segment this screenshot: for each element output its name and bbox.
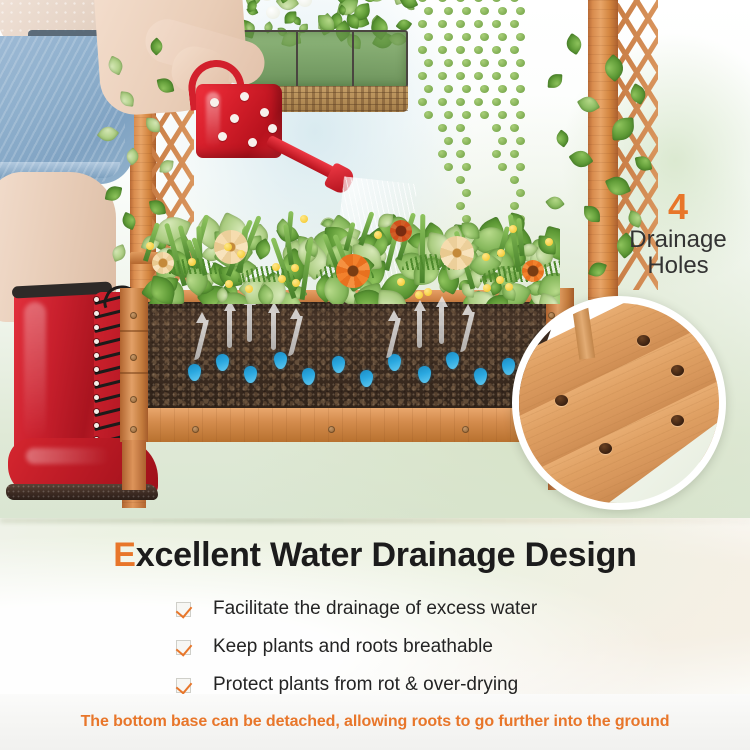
callout-number: 4 <box>608 188 748 226</box>
vine-leaf <box>462 163 471 171</box>
polka-dot <box>230 114 239 123</box>
vine-leaf <box>498 137 507 145</box>
planter-leg-front-left <box>122 440 146 490</box>
small-yellow-flower <box>272 263 280 271</box>
headline-initial: E <box>113 536 135 574</box>
vine-leaf <box>480 7 489 15</box>
vine-leaf <box>456 98 465 106</box>
red-watering-can <box>196 62 356 202</box>
feature-bullet: Facilitate the drainage of excess water <box>176 590 696 628</box>
plank-seam <box>120 372 148 374</box>
vine-leaf <box>438 20 447 28</box>
planter-foliage <box>140 196 560 304</box>
small-yellow-flower <box>482 253 490 261</box>
vine-leaf <box>462 111 471 119</box>
vine-leaf <box>480 111 489 119</box>
arrow-stem <box>417 308 422 348</box>
vine-leaf <box>462 85 471 93</box>
vine-leaf <box>510 20 519 28</box>
feature-bullet-label: Protect plants from rot & over-drying <box>213 674 518 694</box>
vine-leaf <box>498 59 507 67</box>
vine-leaf <box>480 59 489 67</box>
vine-leaf <box>516 137 525 145</box>
small-yellow-flower <box>374 231 382 239</box>
vine-leaf <box>498 111 507 119</box>
white-flower <box>266 6 280 19</box>
boot-shaft <box>14 288 106 460</box>
vine-leaf <box>418 46 427 54</box>
vine-leaf <box>510 46 519 54</box>
vine-leaf <box>516 33 525 41</box>
flower-bloom <box>152 252 174 274</box>
vine-leaf <box>498 85 507 93</box>
feature-bullet-label: Keep plants and roots breathable <box>213 636 493 658</box>
polka-dot <box>260 108 269 117</box>
banner-text: The bottom base can be detached, allowin… <box>81 713 670 731</box>
vine-leaf <box>456 124 465 132</box>
small-yellow-flower <box>237 250 245 258</box>
lace-eyelet <box>94 311 99 316</box>
flower-bloom <box>390 220 412 242</box>
flower-bloom <box>336 254 370 288</box>
polka-dot <box>248 138 257 147</box>
checkmark-icon <box>176 678 191 693</box>
small-yellow-flower <box>424 288 432 296</box>
small-yellow-flower <box>397 278 405 286</box>
raised-garden-bed <box>132 290 562 470</box>
arrow-head <box>388 310 400 321</box>
vine-leaf <box>418 72 427 80</box>
vine-leaf <box>438 124 447 132</box>
vine-leaf <box>510 124 519 132</box>
vine-leaf <box>492 72 501 80</box>
planter-front-board <box>132 408 562 442</box>
screw-head <box>130 426 137 433</box>
screw-head <box>130 312 137 319</box>
airflow-arrow <box>224 302 234 348</box>
callout-line-1: Drainage <box>608 227 748 252</box>
vine-leaf <box>424 33 433 41</box>
vine-leaf <box>456 72 465 80</box>
vine-leaf <box>498 163 507 171</box>
lace-eyelet <box>94 339 99 344</box>
vine-leaf <box>474 46 483 54</box>
grass-blade <box>420 214 426 283</box>
vine-leaf <box>456 176 465 184</box>
vine-leaf <box>516 111 525 119</box>
arrow-stem <box>439 304 444 344</box>
white-flower <box>298 0 312 7</box>
polka-dot <box>240 92 249 101</box>
vine-leaf <box>480 85 489 93</box>
headline-rest: xcellent Water Drainage Design <box>136 536 637 574</box>
vine-leaf <box>510 150 519 158</box>
vine-leaf <box>492 150 501 158</box>
vine-leaf <box>438 72 447 80</box>
vine-leaf <box>444 111 453 119</box>
small-yellow-flower <box>225 280 233 288</box>
drainage-hole <box>599 443 612 454</box>
airflow-arrow <box>290 310 300 356</box>
screw-head <box>192 426 199 433</box>
arrow-head <box>290 308 302 319</box>
airflow-arrow <box>196 314 206 360</box>
page-title: Excellent Water Drainage Design <box>0 536 750 575</box>
vine-leaf <box>456 150 465 158</box>
callout-line-2: Holes <box>608 253 748 278</box>
inset-photo <box>519 303 719 503</box>
vine-leaf <box>510 98 519 106</box>
drainage-hole <box>555 395 568 406</box>
vine-leaf <box>474 98 483 106</box>
lace-eyelet <box>94 367 99 372</box>
small-yellow-flower <box>509 225 517 233</box>
polka-dot <box>218 132 227 141</box>
feature-text-panel: Excellent Water Drainage Design Facilita… <box>0 518 750 694</box>
feature-bullet-list: Facilitate the drainage of excess waterK… <box>176 590 696 694</box>
vine-leaf <box>438 98 447 106</box>
checkmark-icon <box>176 602 191 617</box>
vine-leaf <box>418 20 427 28</box>
vine-leaf <box>444 7 453 15</box>
lace-eyelet <box>94 423 99 428</box>
vine-leaf <box>456 20 465 28</box>
lace-eyelet <box>94 297 99 302</box>
vine-leaf <box>492 46 501 54</box>
arrow-stem <box>227 308 232 348</box>
vine-leaf <box>462 59 471 67</box>
vine-leaf <box>424 111 433 119</box>
airflow-arrow <box>268 304 278 350</box>
vine-leaf <box>444 137 453 145</box>
vine-leaf <box>462 33 471 41</box>
small-yellow-flower <box>188 258 196 266</box>
bottom-banner: The bottom base can be detached, allowin… <box>0 694 750 750</box>
flower-bloom <box>522 260 544 282</box>
arrow-stem <box>271 310 276 350</box>
vine-leaf <box>516 7 525 15</box>
drainage-hole <box>671 415 684 426</box>
vine-leaf <box>444 163 453 171</box>
vine-leaf <box>516 59 525 67</box>
vine-leaf <box>474 72 483 80</box>
checkmark-icon <box>176 640 191 655</box>
vine-leaf <box>444 85 453 93</box>
lace-eyelet <box>94 325 99 330</box>
polka-dot <box>210 98 219 107</box>
flower-bloom <box>440 236 474 270</box>
product-marketing-image: 4 Drainage Holes Excellent Water Drainag… <box>0 0 750 750</box>
vine-leaf <box>516 85 525 93</box>
vine-leaf <box>516 163 525 171</box>
screw-head <box>130 396 137 403</box>
vine-leaf <box>424 85 433 93</box>
vine-leaf <box>510 0 519 2</box>
vine-leaf <box>492 0 501 2</box>
vine-leaf <box>438 46 447 54</box>
screw-head <box>462 426 469 433</box>
screw-head <box>328 426 335 433</box>
vine-leaf <box>462 7 471 15</box>
vine-leaf <box>474 20 483 28</box>
vine-leaf <box>492 20 501 28</box>
vine-leaf <box>510 72 519 80</box>
vine-leaf <box>424 59 433 67</box>
drainage-hole <box>671 365 684 376</box>
plank-seam <box>120 330 148 332</box>
lace-eyelet <box>94 409 99 414</box>
vine-leaf <box>424 7 433 15</box>
small-yellow-flower <box>224 243 232 251</box>
small-yellow-flower <box>545 238 553 246</box>
white-flower <box>260 0 274 1</box>
feature-bullet: Keep plants and roots breathable <box>176 628 696 666</box>
small-yellow-flower <box>292 279 300 287</box>
airflow-arrow <box>436 298 446 344</box>
feature-bullet-label: Facilitate the drainage of excess water <box>213 598 537 620</box>
drainage-hole <box>637 335 650 346</box>
vine-leaf <box>438 150 447 158</box>
lace-eyelet <box>94 353 99 358</box>
vine-leaf <box>462 137 471 145</box>
vine-leaf <box>492 124 501 132</box>
vine-leaf <box>456 46 465 54</box>
screw-head <box>130 354 137 361</box>
vine-leaf <box>444 59 453 67</box>
vine-leaf <box>480 33 489 41</box>
airflow-arrow <box>414 302 424 348</box>
drainage-holes-inset <box>512 296 726 510</box>
arrow-head <box>196 312 208 323</box>
small-yellow-flower <box>415 291 423 299</box>
vine-leaf <box>444 33 453 41</box>
small-yellow-flower <box>300 215 308 223</box>
arrow-stem <box>247 302 252 342</box>
feature-bullet: Protect plants from rot & over-drying <box>176 666 696 694</box>
airflow-arrow <box>462 306 472 352</box>
airflow-arrow <box>388 312 398 358</box>
hero-photo: 4 Drainage Holes <box>0 0 750 520</box>
vine-leaf <box>498 7 507 15</box>
arrow-head <box>462 304 474 315</box>
polka-dot <box>268 124 277 133</box>
vine-leaf <box>418 98 427 106</box>
drainage-holes-callout: 4 Drainage Holes <box>608 188 748 278</box>
lace-eyelet <box>94 395 99 400</box>
vine-leaf <box>510 176 519 184</box>
vine-leaf <box>498 33 507 41</box>
vine-leaf <box>492 98 501 106</box>
lace-eyelet <box>94 381 99 386</box>
